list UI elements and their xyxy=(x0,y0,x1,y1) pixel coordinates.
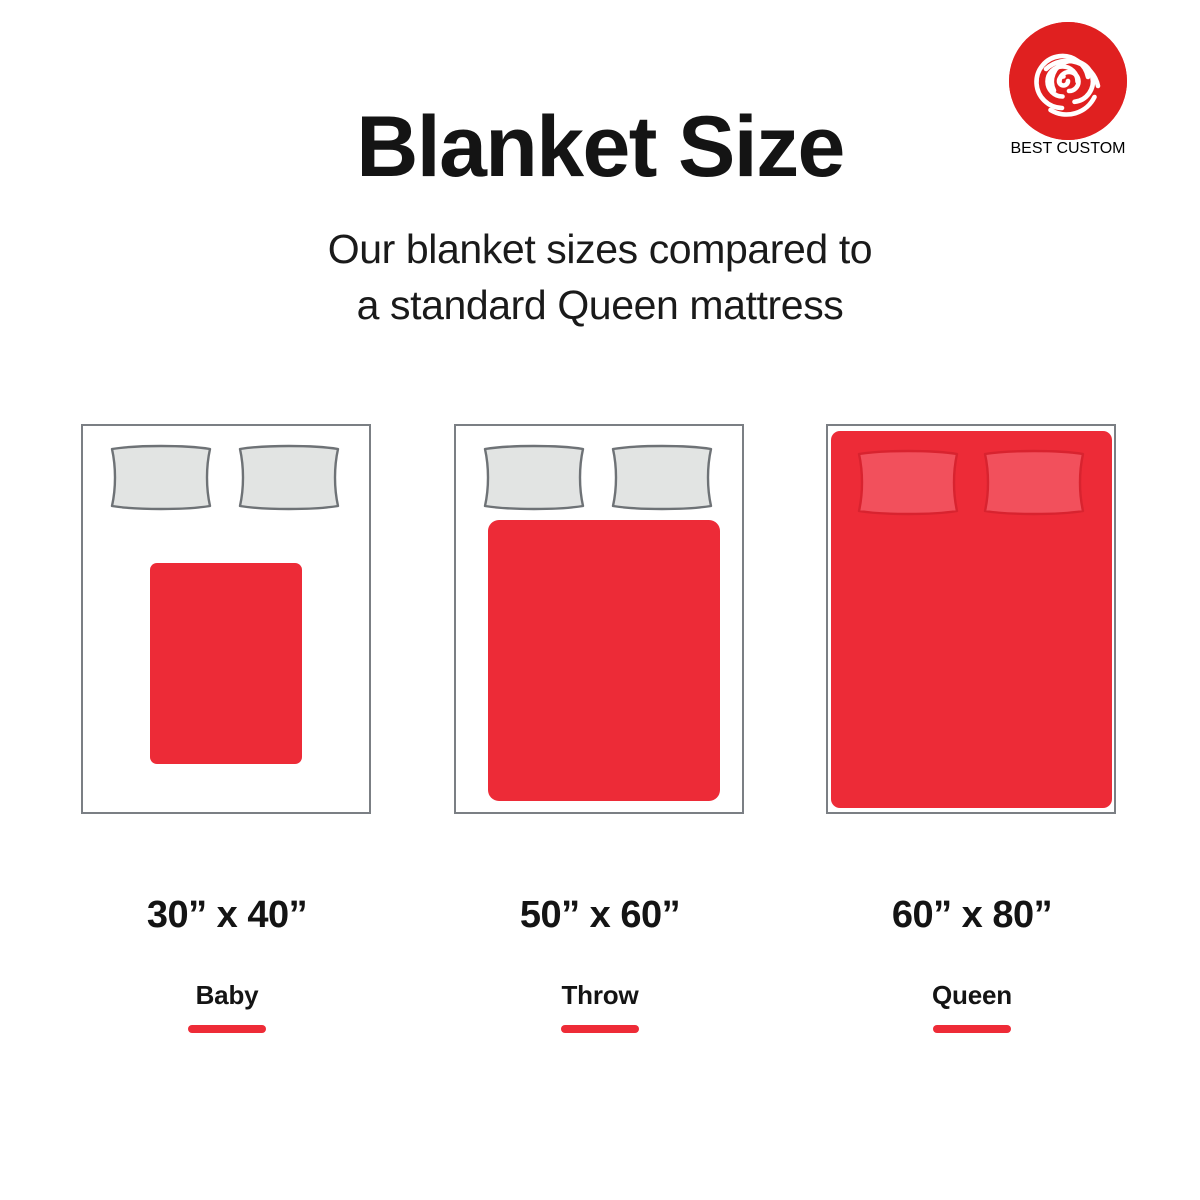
pillow-icon xyxy=(235,443,343,512)
accent-underline xyxy=(561,1025,639,1033)
pillow-icon xyxy=(480,443,588,512)
mattress-outline xyxy=(454,424,744,814)
blanket-dimensions: 50” x 60” xyxy=(454,896,746,934)
pillow-icon xyxy=(980,448,1088,517)
caption-baby: 30” x 40” Baby xyxy=(81,896,373,1033)
blanket-shape-baby xyxy=(150,563,302,764)
blanket-dimensions: 30” x 40” xyxy=(81,896,373,934)
bed-diagram-baby xyxy=(81,424,373,814)
bed-diagram-throw xyxy=(454,424,746,814)
headline-block: Blanket Size Our blanket sizes compared … xyxy=(0,104,1200,334)
page-subtitle-line2: a standard Queen mattress xyxy=(0,278,1200,334)
pillow-icon xyxy=(854,448,962,517)
caption-throw: 50” x 60” Throw xyxy=(454,896,746,1033)
bed-diagram-queen xyxy=(826,424,1118,814)
page-title: Blanket Size xyxy=(0,104,1200,190)
blanket-shape-throw xyxy=(488,520,720,801)
blanket-name: Throw xyxy=(454,982,746,1008)
page-subtitle: Our blanket sizes compared to a standard… xyxy=(0,222,1200,334)
caption-row: 30” x 40” Baby 50” x 60” Throw 60” x 80”… xyxy=(0,896,1200,1056)
mattress-outline xyxy=(826,424,1116,814)
blanket-name: Baby xyxy=(81,982,373,1008)
blanket-name: Queen xyxy=(826,982,1118,1008)
caption-queen: 60” x 80” Queen xyxy=(826,896,1118,1033)
pillow-icon xyxy=(107,443,215,512)
accent-underline xyxy=(188,1025,266,1033)
accent-underline xyxy=(933,1025,1011,1033)
pillow-icon xyxy=(608,443,716,512)
blanket-dimensions: 60” x 80” xyxy=(826,896,1118,934)
page-subtitle-line1: Our blanket sizes compared to xyxy=(0,222,1200,278)
bed-comparison-row xyxy=(0,424,1200,824)
mattress-outline xyxy=(81,424,371,814)
